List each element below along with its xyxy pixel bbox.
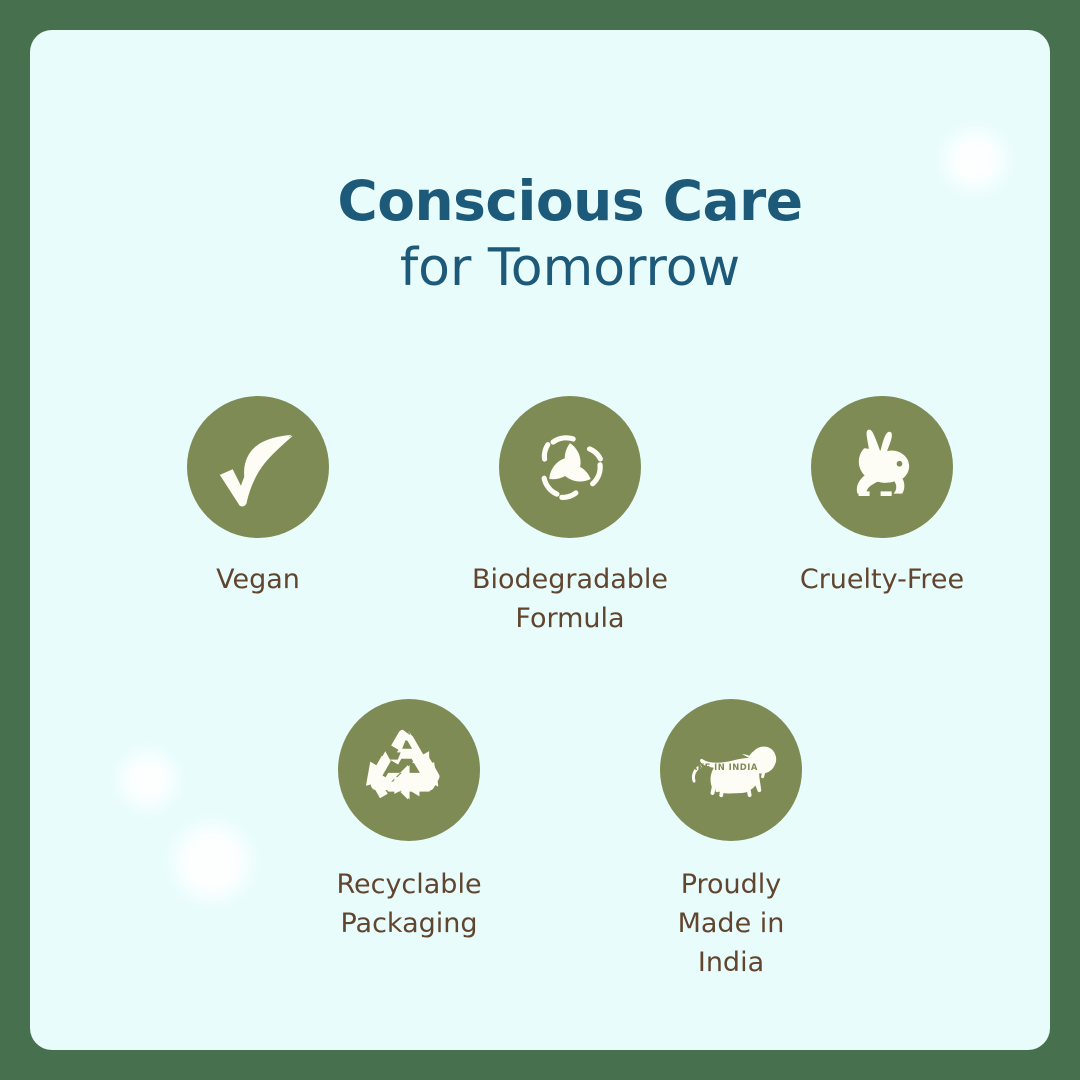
make-in-india-lion-icon: MAKE IN INDIA (679, 718, 783, 822)
badge-recyclable-packaging: Recyclable Packaging (319, 699, 499, 982)
badge-vegan-label: Vegan (216, 560, 300, 599)
badge-cruelty-free: Cruelty-Free (792, 396, 972, 638)
badge-made-in-india-circle: MAKE IN INDIA (660, 699, 802, 841)
badge-biodegradable-circle (499, 396, 641, 538)
badge-recyclable-label: Recyclable Packaging (336, 865, 481, 943)
leaf-check-icon (212, 421, 304, 513)
badge-made-in-india-label: Proudly Made in India (641, 865, 821, 982)
badge-vegan-circle (187, 396, 329, 538)
badge-row-one: Vegan (30, 396, 1050, 638)
badge-cruelty-free-label: Cruelty-Free (800, 560, 964, 599)
title-line-primary: Conscious Care (30, 172, 1050, 231)
badge-vegan: Vegan (168, 396, 348, 638)
rabbit-icon (836, 421, 928, 513)
badge-biodegradable-label: Biodegradable Formula (472, 560, 668, 638)
three-leaf-cycle-icon (524, 421, 616, 513)
poster-stage: Conscious Care for Tomorrow Vegan (0, 0, 1080, 1080)
badge-made-in-india: MAKE IN INDIA (641, 699, 821, 982)
badge-row-two: Recyclable Packaging MAKE IN INDIA (30, 699, 1050, 982)
page-title: Conscious Care for Tomorrow (30, 172, 1050, 301)
content-card: Conscious Care for Tomorrow Vegan (30, 30, 1050, 1050)
title-line-secondary: for Tomorrow (30, 237, 1050, 300)
badge-recyclable-circle (338, 699, 480, 841)
badge-cruelty-free-circle (811, 396, 953, 538)
recycle-arrows-icon (362, 723, 456, 817)
badge-biodegradable-formula: Biodegradable Formula (480, 396, 660, 638)
